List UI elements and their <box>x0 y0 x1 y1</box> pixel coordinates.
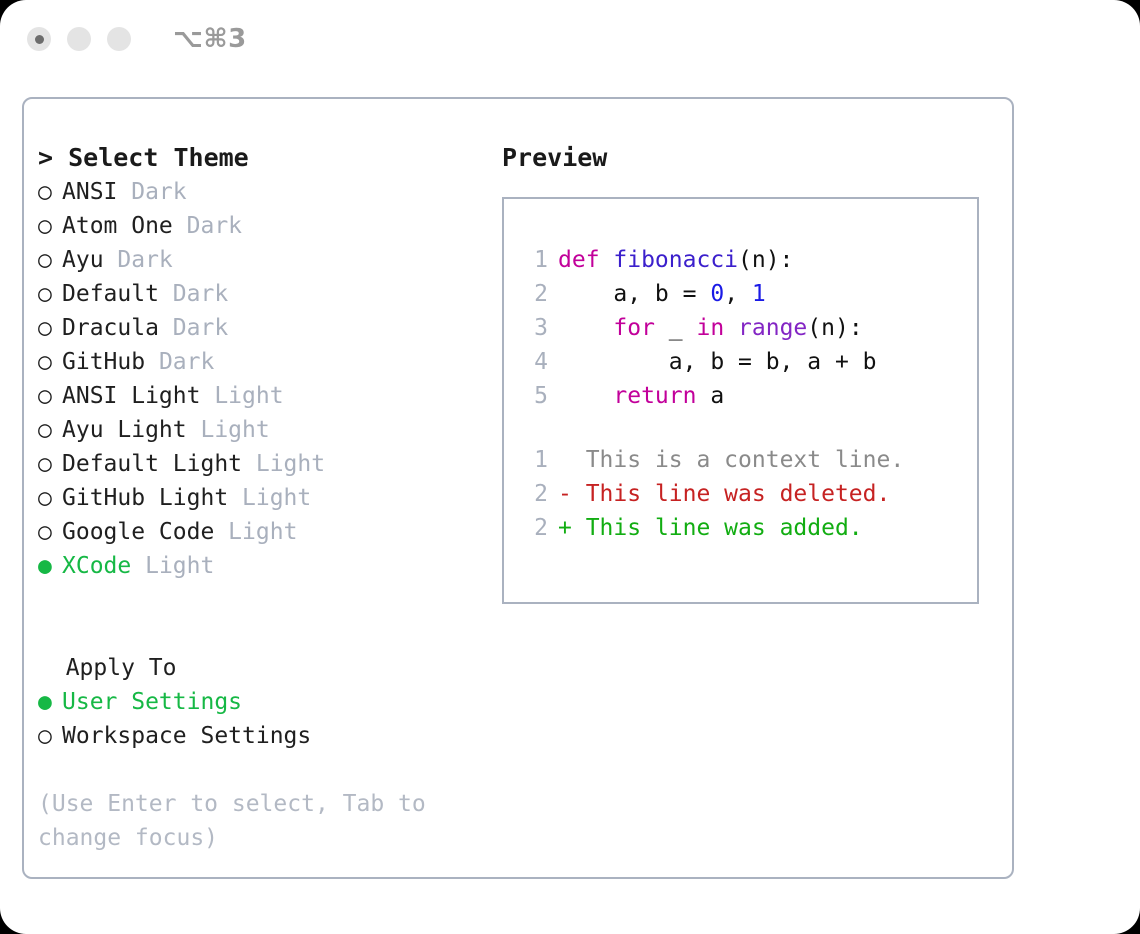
theme-variant: Dark <box>104 247 173 273</box>
keyboard-hint-text: (Use Enter to select, Tab to change focu… <box>38 787 458 855</box>
theme-list-item[interactable]: ● XCode Light <box>38 549 478 583</box>
theme-list-item[interactable]: ○ Ayu Light Light <box>38 413 478 447</box>
radio-unselected-icon: ○ <box>38 243 62 277</box>
theme-list-item[interactable]: ○ Dracula Dark <box>38 311 478 345</box>
diff-line-number: 2 <box>522 477 548 511</box>
code-token: for <box>613 315 655 341</box>
code-token: return <box>613 383 696 409</box>
theme-list-item[interactable]: ○ ANSI Light Light <box>38 379 478 413</box>
code-sample: 1def fibonacci(n):2 a, b = 0, 13 for _ i… <box>522 243 977 413</box>
theme-name: Default Light <box>62 451 242 477</box>
theme-name: Dracula <box>62 315 159 341</box>
theme-list-item[interactable]: ○ Default Dark <box>38 277 478 311</box>
main-panel: > Select Theme ○ ANSI Dark○ Atom One Dar… <box>22 97 1014 879</box>
theme-name: Google Code <box>62 519 214 545</box>
theme-variant: Dark <box>145 349 214 375</box>
code-token: fibonacci <box>613 247 738 273</box>
code-token <box>724 315 738 341</box>
diff-marker: + <box>558 515 586 541</box>
diff-marker: - <box>558 481 586 507</box>
theme-name: Ayu <box>62 247 104 273</box>
theme-variant: Dark <box>159 281 228 307</box>
theme-variant: Light <box>200 383 283 409</box>
theme-variant: Dark <box>159 315 228 341</box>
apply-to-label: Workspace Settings <box>62 723 311 749</box>
radio-selected-icon: ● <box>38 549 62 583</box>
app-window: ⌥⌘3 > Select Theme ○ ANSI Dark○ Atom One… <box>0 0 1140 934</box>
radio-selected-icon: ● <box>38 685 62 719</box>
code-line: 4 a, b = b, a + b <box>522 345 977 379</box>
theme-list-item[interactable]: ○ ANSI Dark <box>38 175 478 209</box>
theme-variant: Light <box>214 519 297 545</box>
radio-unselected-icon: ○ <box>38 311 62 345</box>
line-number: 2 <box>522 277 548 311</box>
apply-to-label: User Settings <box>62 689 242 715</box>
radio-unselected-icon: ○ <box>38 277 62 311</box>
theme-name: ANSI <box>62 179 117 205</box>
diff-line: 2- This line was deleted. <box>522 477 977 511</box>
code-token: def <box>558 247 613 273</box>
code-token <box>558 383 613 409</box>
radio-unselected-icon: ○ <box>38 345 62 379</box>
code-token: a <box>696 383 724 409</box>
theme-list-item[interactable]: ○ GitHub Light Light <box>38 481 478 515</box>
theme-name: ANSI Light <box>62 383 200 409</box>
diff-line: 2+ This line was added. <box>522 511 977 545</box>
diff-line-number: 1 <box>522 443 548 477</box>
code-token: 0 <box>710 281 724 307</box>
close-dot[interactable] <box>27 27 51 51</box>
line-number: 3 <box>522 311 548 345</box>
diff-sample: 1 This is a context line.2- This line wa… <box>522 443 977 545</box>
radio-unselected-icon: ○ <box>38 175 62 209</box>
apply-to-option[interactable]: ● User Settings <box>38 685 478 719</box>
theme-variant: Dark <box>173 213 242 239</box>
code-token: (n): <box>807 315 862 341</box>
radio-unselected-icon: ○ <box>38 447 62 481</box>
radio-unselected-icon: ○ <box>38 719 62 753</box>
theme-list-item[interactable]: ○ GitHub Dark <box>38 345 478 379</box>
theme-list-item[interactable]: ○ Default Light Light <box>38 447 478 481</box>
theme-variant: Light <box>228 485 311 511</box>
code-token: range <box>738 315 807 341</box>
theme-list-item[interactable]: ○ Google Code Light <box>38 515 478 549</box>
line-number: 4 <box>522 345 548 379</box>
code-token <box>558 315 613 341</box>
theme-name: GitHub Light <box>62 485 228 511</box>
keyboard-shortcut-label: ⌥⌘3 <box>173 24 247 54</box>
title-bar: ⌥⌘3 <box>0 0 1140 78</box>
diff-line-number: 2 <box>522 511 548 545</box>
diff-text: This line was added. <box>586 515 863 541</box>
code-line: 2 a, b = 0, 1 <box>522 277 977 311</box>
theme-name: XCode <box>62 553 131 579</box>
theme-name: GitHub <box>62 349 145 375</box>
maximize-dot[interactable] <box>107 27 131 51</box>
code-line: 1def fibonacci(n): <box>522 243 977 277</box>
diff-marker <box>558 447 586 473</box>
theme-list-item[interactable]: ○ Ayu Dark <box>38 243 478 277</box>
diff-text: This line was deleted. <box>586 481 891 507</box>
theme-name: Default <box>62 281 159 307</box>
theme-variant: Light <box>242 451 325 477</box>
code-token: a, b = b, a + b <box>558 349 877 375</box>
theme-name: Ayu Light <box>62 417 187 443</box>
code-token: a, b = <box>558 281 710 307</box>
preview-column: Preview 1def fibonacci(n):2 a, b = 0, 13… <box>502 141 992 604</box>
diff-line: 1 This is a context line. <box>522 443 977 477</box>
code-token: , <box>724 281 752 307</box>
theme-variant: Light <box>131 553 214 579</box>
preview-box: 1def fibonacci(n):2 a, b = 0, 13 for _ i… <box>502 197 979 604</box>
close-dot-inner <box>35 35 44 44</box>
code-line: 3 for _ in range(n): <box>522 311 977 345</box>
theme-variant: Light <box>187 417 270 443</box>
code-token: _ <box>655 315 697 341</box>
apply-to-header: Apply To <box>38 651 478 685</box>
theme-list: ○ ANSI Dark○ Atom One Dark○ Ayu Dark○ De… <box>38 175 478 583</box>
apply-to-option[interactable]: ○ Workspace Settings <box>38 719 478 753</box>
theme-selector-column: > Select Theme ○ ANSI Dark○ Atom One Dar… <box>38 141 478 855</box>
theme-list-item[interactable]: ○ Atom One Dark <box>38 209 478 243</box>
code-token: in <box>696 315 724 341</box>
code-diff-spacer <box>522 413 977 443</box>
line-number: 1 <box>522 243 548 277</box>
radio-unselected-icon: ○ <box>38 481 62 515</box>
minimize-dot[interactable] <box>67 27 91 51</box>
radio-unselected-icon: ○ <box>38 413 62 447</box>
theme-name: Atom One <box>62 213 173 239</box>
line-number: 5 <box>522 379 548 413</box>
select-theme-header: > Select Theme <box>38 141 478 175</box>
code-token: (n): <box>738 247 793 273</box>
code-line: 5 return a <box>522 379 977 413</box>
radio-unselected-icon: ○ <box>38 209 62 243</box>
theme-variant: Dark <box>117 179 186 205</box>
diff-text: This is a context line. <box>586 447 905 473</box>
radio-unselected-icon: ○ <box>38 379 62 413</box>
preview-header: Preview <box>502 141 992 175</box>
radio-unselected-icon: ○ <box>38 515 62 549</box>
code-token: 1 <box>752 281 766 307</box>
apply-to-list: ● User Settings○ Workspace Settings <box>38 685 478 753</box>
